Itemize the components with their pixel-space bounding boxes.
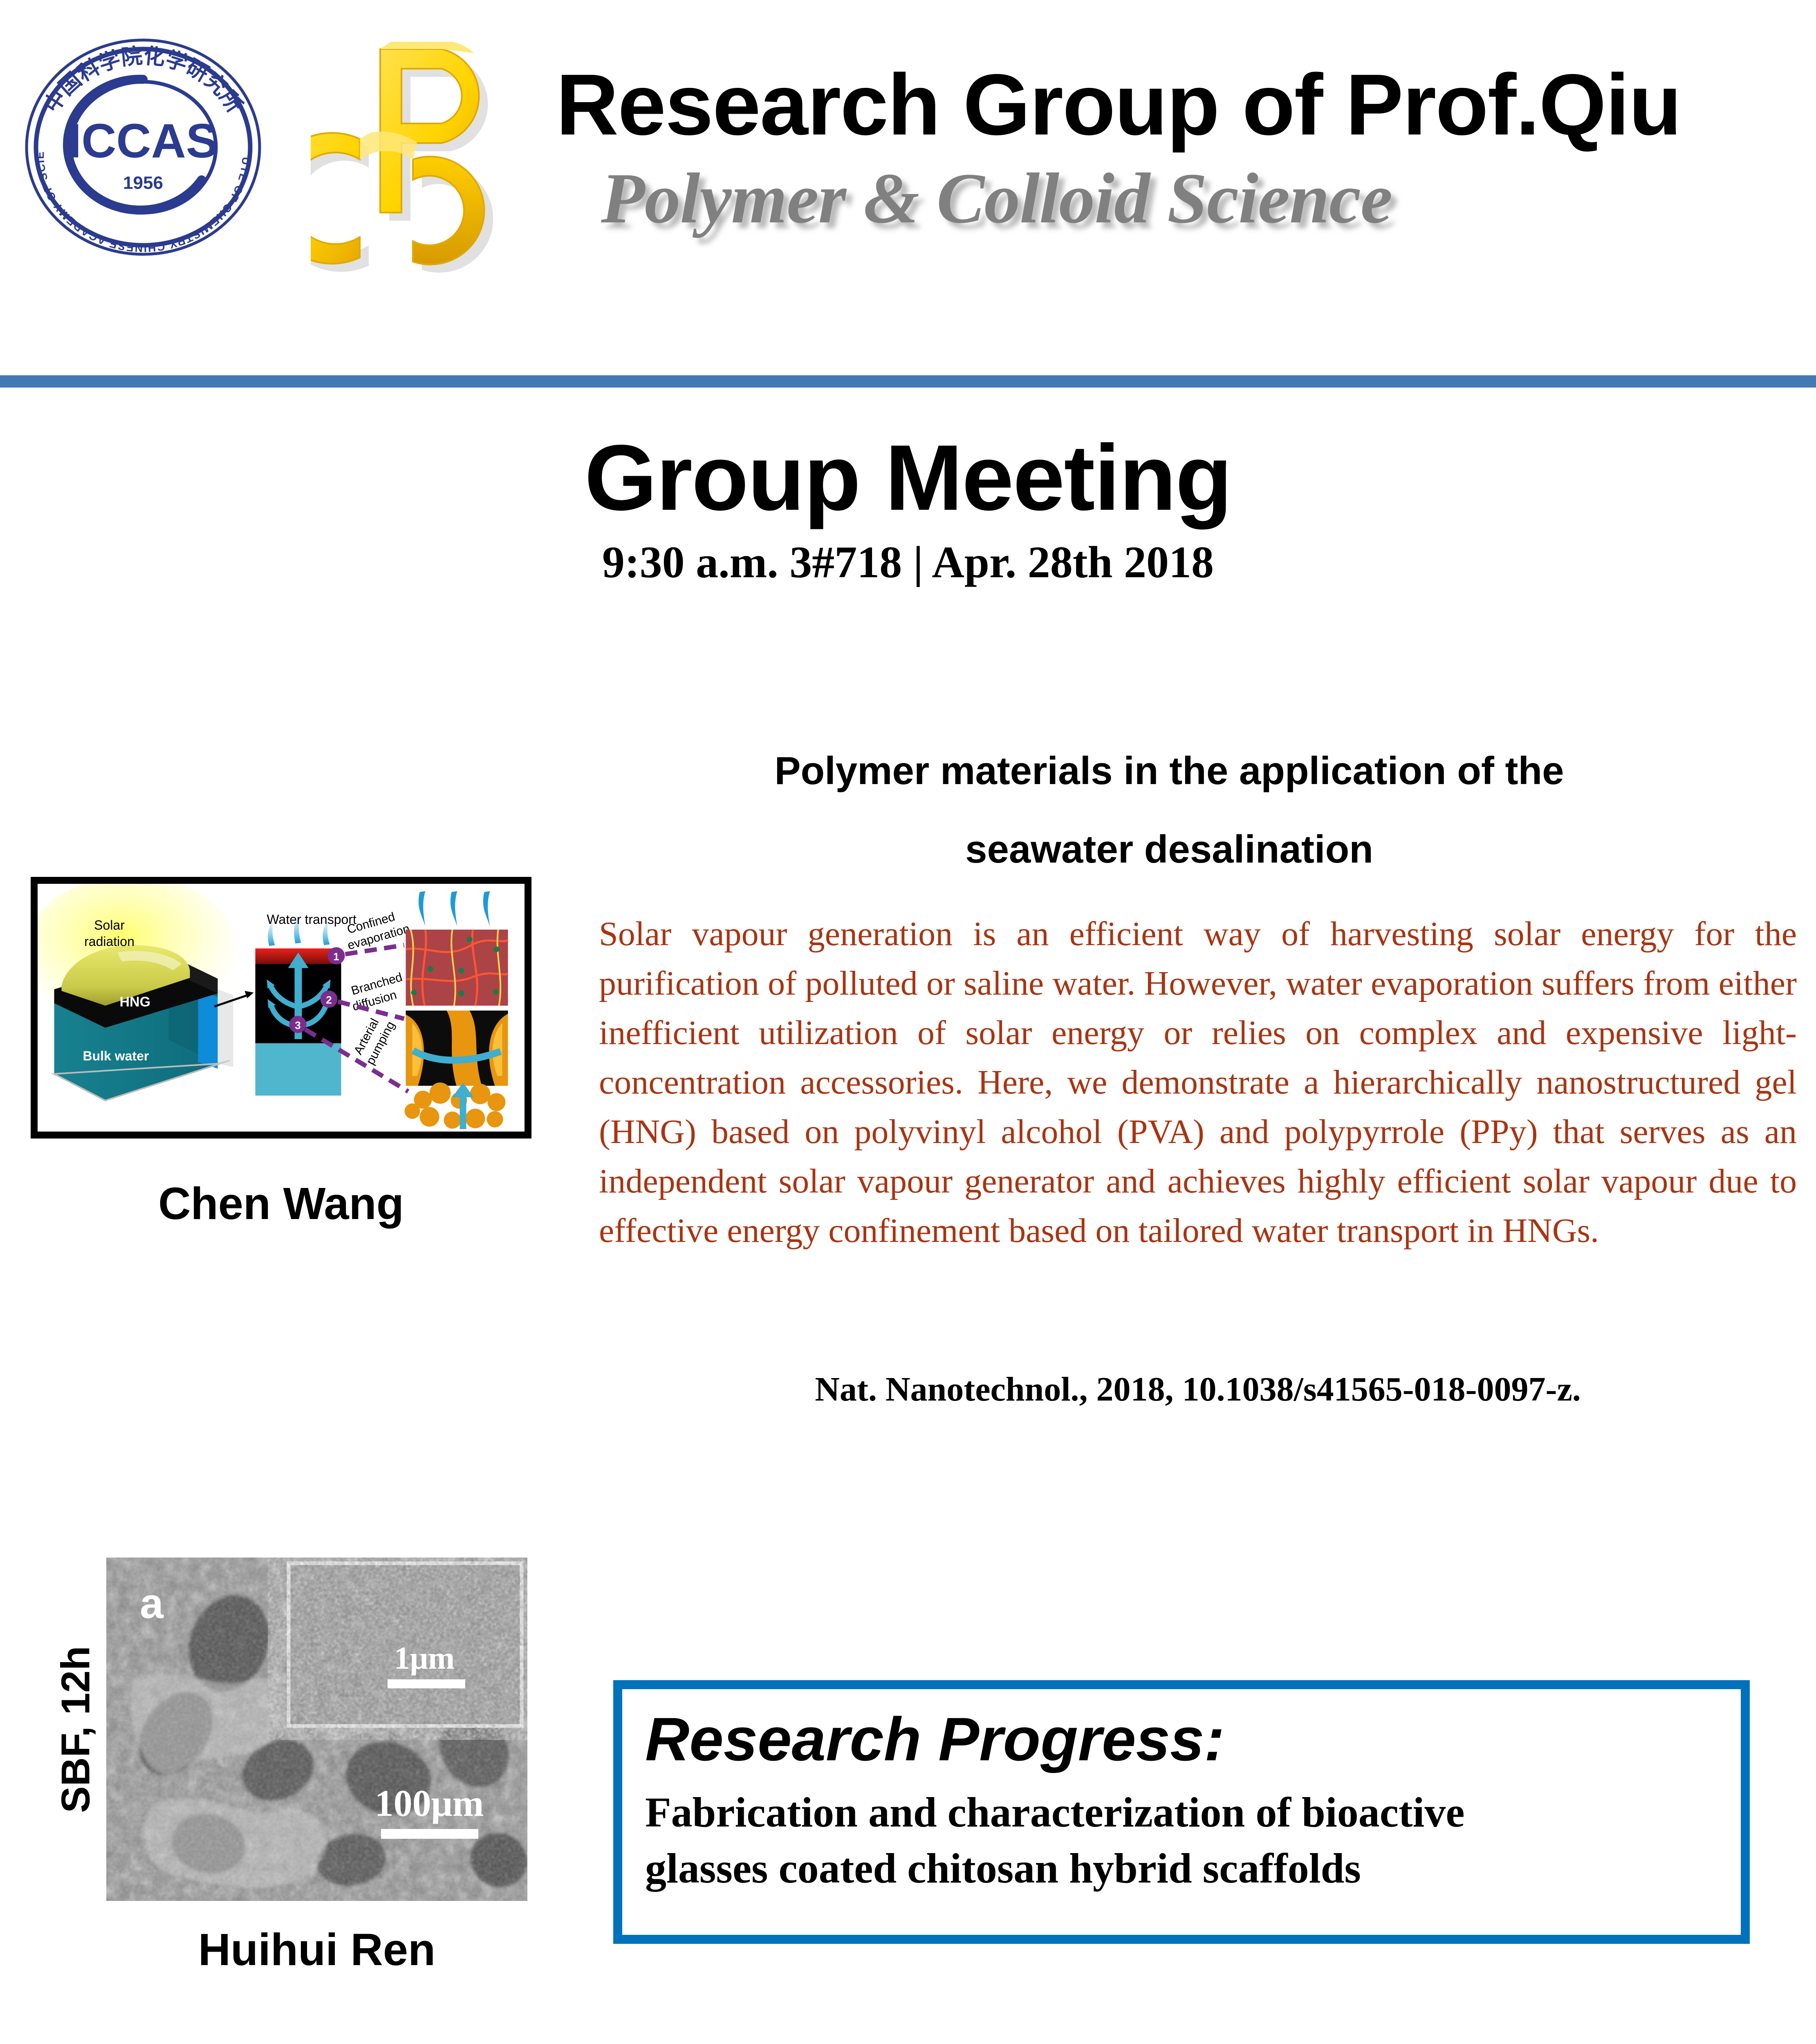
meeting-title: Group Meeting (0, 429, 1816, 527)
solar-vapour-generation-figure: Solar radiation HNG Bulk water (31, 877, 531, 1139)
research-progress-subtitle-line2: glasses coated chitosan hybrid scaffolds (645, 1840, 1718, 1896)
talk2-speaker-name: Huihui Ren (45, 1924, 531, 1976)
talk1-figure-wrap: Solar radiation HNG Bulk water (31, 877, 531, 1230)
sem-side-label-text: SBF, 12h (53, 1646, 99, 1813)
header-divider (0, 375, 1816, 388)
pcs-monogram-logo (311, 37, 527, 278)
sem-inset-scalebar (388, 1679, 465, 1688)
iccas-year: 1956 (123, 173, 163, 193)
figure-label-bulk-water: Bulk water (83, 1049, 149, 1063)
figure-label-hng: HNG (120, 994, 151, 1010)
talk1-title: Polymer materials in the application of … (605, 732, 1733, 889)
research-progress-subtitle: Fabrication and characterization of bioa… (645, 1784, 1718, 1897)
iccas-logo: 中国科学院化学研究所 INSTITUTE OF CHEMISTRY CHINES… (22, 37, 264, 258)
figure-marker-2: 2 (326, 994, 332, 1006)
figure-marker-3: 3 (295, 1019, 300, 1031)
talk1-title-line2: seawater desalination (605, 810, 1733, 889)
figure-label-water-transport: Water transport (267, 912, 356, 927)
sem-panel-label: a (140, 1580, 164, 1627)
iccas-wordmark: ICCAS (68, 114, 218, 168)
sem-main-scalebar (381, 1829, 478, 1839)
figure-label-radiation: radiation (84, 934, 135, 949)
research-progress-box: Research Progress: Fabrication and chara… (613, 1680, 1750, 1944)
sem-inset-scalebar-label: 1μm (394, 1640, 455, 1676)
figure-marker-1: 1 (333, 950, 339, 963)
sem-inset: 1μm (289, 1563, 522, 1726)
talk1-title-line1: Polymer materials in the application of … (605, 732, 1733, 810)
meeting-block: Group Meeting 9:30 a.m. 3#718 | Apr. 28t… (0, 429, 1816, 587)
page-title: Research Group of Prof.Qiu (556, 61, 1782, 148)
research-progress-heading: Research Progress: (645, 1704, 1718, 1775)
talk1-citation: Nat. Nanotechnol., 2018, 10.1038/s41565-… (599, 1369, 1797, 1409)
sem-micrograph-figure: a 1μm 100μm (106, 1558, 527, 1901)
poster-header: 中国科学院化学研究所 INSTITUTE OF CHEMISTRY CHINES… (0, 0, 1816, 373)
talk1-abstract: Solar vapour generation is an efficient … (599, 910, 1797, 1256)
figure-label-solar: Solar (94, 918, 125, 932)
sem-side-label: SBF, 12h (45, 1558, 106, 1901)
sem-main-scalebar-label: 100μm (375, 1782, 484, 1824)
talk2-figure-wrap: SBF, 12h (45, 1558, 531, 1976)
talk1-speaker-name: Chen Wang (31, 1178, 531, 1230)
research-progress-subtitle-line1: Fabrication and characterization of bioa… (645, 1784, 1718, 1840)
header-subtitle: Polymer & Colloid Science (556, 163, 1782, 235)
meeting-datetime: 9:30 a.m. 3#718 | Apr. 28th 2018 (0, 538, 1816, 587)
